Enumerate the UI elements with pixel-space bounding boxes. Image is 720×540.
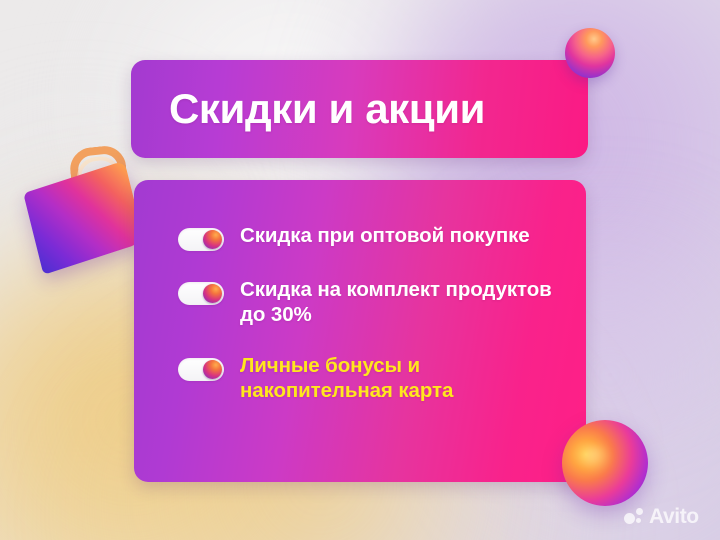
avito-watermark: Avito	[624, 506, 699, 527]
list-item-label: Личные бонусы и накопительная карта	[240, 354, 562, 403]
decorative-sphere-top-right	[565, 28, 615, 78]
promo-banner: Скидки и акции Скидка при оптовой покупк…	[0, 0, 720, 540]
toggle-knob-icon	[203, 360, 222, 379]
list-item[interactable]: Скидка на комплект продуктов до 30%	[178, 278, 562, 327]
title-card: Скидки и акции	[131, 60, 588, 158]
page-title: Скидки и акции	[131, 88, 485, 130]
avito-brand-label: Avito	[649, 506, 699, 527]
toggle-knob-icon	[203, 284, 222, 303]
offers-list: Скидка при оптовой покупке Скидка на ком…	[178, 224, 562, 403]
list-item[interactable]: Личные бонусы и накопительная карта	[178, 354, 562, 403]
toggle-switch-icon[interactable]	[178, 282, 224, 305]
avito-logo-icon	[624, 507, 644, 527]
list-item[interactable]: Скидка при оптовой покупке	[178, 224, 562, 251]
offers-card: Скидка при оптовой покупке Скидка на ком…	[134, 180, 586, 482]
list-item-label: Скидка на комплект продуктов до 30%	[240, 278, 562, 327]
list-item-label: Скидка при оптовой покупке	[240, 224, 530, 249]
toggle-switch-icon[interactable]	[178, 228, 224, 251]
toggle-knob-icon	[203, 230, 222, 249]
toggle-switch-icon[interactable]	[178, 358, 224, 381]
decorative-sphere-bottom-right	[562, 420, 648, 506]
